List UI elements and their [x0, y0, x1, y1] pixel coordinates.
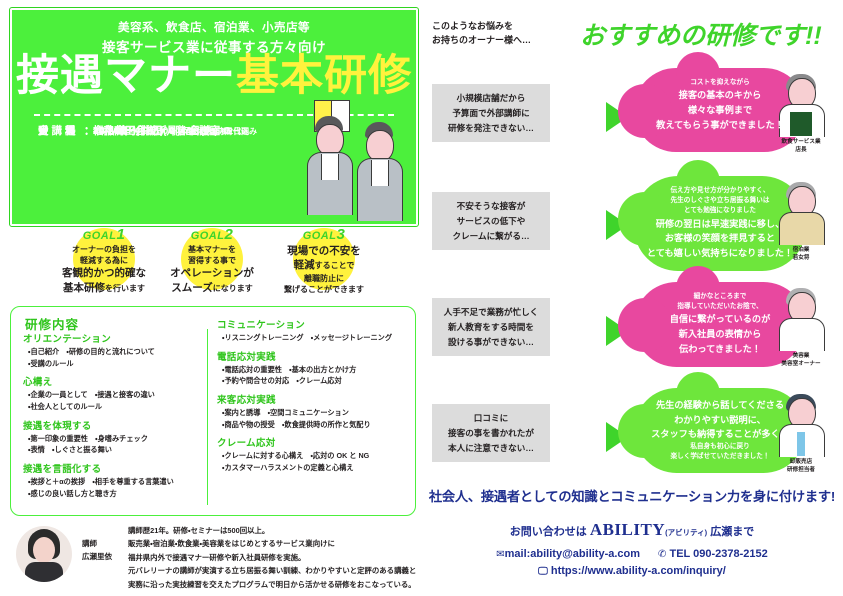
hero-info-colon: ： [84, 123, 93, 219]
testimonial-large-line: 自信に繋がっているのが [646, 312, 794, 327]
flyer-page: 美容系、飲食店、宿泊業、小売店等 接客サービス業に従事する方々向け 接遇マナー基… [0, 0, 843, 596]
goal-line: することで [315, 261, 355, 270]
goal-text: オーナーの負担を 軽減する為に 客観的かつ的確な 基本研修を行います [52, 244, 156, 295]
curriculum-item: ・受講のルール [23, 358, 203, 370]
lead-line-2: お持ちのオーナー様へ… [432, 35, 531, 45]
curriculum-divider [207, 329, 208, 505]
curriculum-section-heading: 心構え [23, 374, 203, 388]
curriculum-item: ・挨拶と＋αの挨拶 ・相手を尊重する言葉遣い [23, 476, 203, 488]
hero-info-label: 受講料 [38, 123, 84, 219]
persona-caption-line: 飲食サービス業 [781, 139, 820, 145]
goal-line-emphasis: 基本研修 [63, 282, 105, 294]
curriculum-left-column: オリエンテーション ・自己紹介 ・研修の目的と流れについて ・受講のルール 心構… [23, 331, 203, 504]
persona-caption-line: 美容室オーナー [781, 361, 820, 367]
contact-web[interactable]: https://www.ability-a.com/inquiry/ [551, 565, 726, 577]
goal-label-text: GOAL [303, 230, 337, 242]
body-shape [25, 562, 63, 582]
curriculum-item: ・感じの良い話し方と聴き方 [23, 488, 203, 500]
problem-line: 本人に注意できない… [448, 443, 534, 453]
goal-text: 現場での不安を 軽減することで 離職防止に 繋げることができます [272, 244, 376, 295]
testimonial-small-line: コストを抑えながら [646, 78, 794, 88]
problem-line: 新人教育をする時間を [448, 322, 534, 332]
goal-label: GOAL2 [160, 226, 264, 243]
testimonial-row-2: 不安そうな接客が サービスの低下や クレームに繋がる… 伝え方や見せ方が分かりや… [428, 174, 836, 270]
curriculum-item: ・案内と誘導 ・空間コミュニケーション [217, 407, 397, 419]
persona-caption-line: 研修担当者 [787, 467, 815, 473]
curriculum-section-heading: クレーム応対 [217, 435, 397, 449]
goal-line: 習得する事で [188, 256, 236, 265]
problem-line: 不安そうな接客が [457, 201, 526, 211]
curriculum-item: ・表情 ・しぐさと振る舞い [23, 444, 203, 456]
contact-mail-phone-line: ✉mail:ability@ability-a.com✆ TEL 090-237… [428, 548, 836, 560]
curriculum-panel: 研修内容 オリエンテーション ・自己紹介 ・研修の目的と流れについて ・受講のル… [10, 306, 416, 516]
testimonial-large-line: 先生の経験から話してくださる [646, 398, 794, 413]
curriculum-section-heading: 接遇を言語化する [23, 461, 203, 475]
goal-line-emphasis: 現場での不安を [287, 245, 361, 257]
curriculum-item: ・自己紹介 ・研修の目的と流れについて [23, 346, 203, 358]
goal-label-text: GOAL [83, 230, 117, 242]
persona-caption-line: 店長 [795, 147, 806, 153]
testimonial-large-line: スタッフも納得することが多く、 [646, 427, 794, 442]
testimonial-large-line: 様々な事例まで [646, 103, 794, 118]
contact-phone[interactable]: TEL 090-2378-2152 [670, 548, 768, 560]
goals-section: GOAL1 オーナーの負担を 軽減する為に 客観的かつ的確な 基本研修を行います… [10, 226, 414, 304]
persona-caption-line: 若女将 [793, 255, 810, 261]
instructor-role: 講師 [82, 539, 97, 548]
goal-line: オーナーの負担を [72, 245, 136, 254]
problem-line: クレームに繋がる… [452, 231, 529, 241]
problem-line: 予算面で外部講師に [452, 108, 529, 118]
problem-box: 人手不足で業務が忙しく 新人教育をする時間を 設ける事ができない… [432, 298, 550, 356]
goal-line-emphasis: 客観的かつ的確な [62, 267, 146, 279]
testimonial-cloud: 細かなところまで 指導していただいたお陰で、 自信に繋がっているのが 新入社員の… [634, 282, 806, 367]
instructor-photo [16, 526, 72, 582]
curriculum-item: ・商品や物の授受 ・飲食提供時の所作と気配り [217, 419, 397, 431]
testimonial-row-1: 小規模店舗だから 予算面で外部講師に 研修を発注できない… コストを抑えながら … [428, 66, 836, 162]
curriculum-item: ・予約や問合せの対応 ・クレーム応対 [217, 375, 397, 387]
hero-subtitle-1: 美容系、飲食店、宿泊業、小売店等 [12, 19, 416, 35]
goal-number: 1 [116, 226, 125, 243]
problem-line: 設ける事ができない… [448, 337, 534, 347]
instructor-bio: 講師歴21年。研修・セミナーは500回以上。 販売業・宿泊業・飲食業・美容業をは… [128, 524, 422, 591]
goal-label: GOAL3 [272, 226, 376, 243]
persona-caption-line: 美容業 [793, 353, 810, 359]
problem-line: サービスの低下や [457, 216, 526, 226]
curriculum-section: 接遇を言語化する ・挨拶と＋αの挨拶 ・相手を尊重する言葉遣い ・感じの良い話し… [23, 461, 203, 499]
curriculum-section: オリエンテーション ・自己紹介 ・研修の目的と流れについて ・受講のルール [23, 331, 203, 369]
contact-suffix: 広瀬まで [710, 526, 754, 538]
brand-kana: (アビリティ) [665, 528, 707, 537]
curriculum-item: ・社会人としてのルール [23, 401, 203, 413]
envelope-icon: ✉ [496, 549, 504, 560]
curriculum-section: クレーム応対 ・クレームに対する心構え ・応対の OK と NG ・カスタマーハ… [217, 435, 397, 473]
instructor-bio-line: 講師歴21年。研修・セミナーは500回以上。 [128, 524, 422, 537]
curriculum-section-heading: 接遇を体現する [23, 418, 203, 432]
problem-box: 小規模店舗だから 予算面で外部講師に 研修を発注できない… [432, 84, 550, 142]
hero-title-part1: 接遇マナー [16, 52, 236, 100]
goal-line-emphasis: 軽減 [294, 259, 315, 271]
goal-line-emphasis: オペレーションが [170, 267, 254, 279]
problem-line: 人手不足で業務が忙しく [444, 307, 539, 317]
goal-label: GOAL1 [52, 226, 156, 243]
testimonial-small-line: 細かなところまで [646, 292, 794, 302]
testimonial-row-4: 口コミに 接客の事を書かれたが 本人に注意できない… 先生の経験から話してくださ… [428, 386, 836, 482]
persona-caption: 飲食サービス業 店長 [768, 138, 834, 155]
curriculum-section: 接遇を体現する ・第一印象の重要性 ・身嗜みチェック ・表情 ・しぐさと振る舞い [23, 418, 203, 456]
curriculum-item: ・企業の一員として ・接遇と接客の違い [23, 389, 203, 401]
goal-number: 3 [336, 226, 345, 243]
testimonial-text: コストを抑えながら 接客の基本のキから 様々な事例まで 教えてもらう事ができまし… [646, 78, 794, 132]
curriculum-item: ・リスニングトレーニング ・メッセージトレーニング [217, 332, 397, 344]
goal-line-emphasis: スムーズ [171, 282, 212, 294]
instructor-name-block: 講師 広瀬里依 [82, 538, 112, 564]
curriculum-right-column: コミュニケーション ・リスニングトレーニング ・メッセージトレーニング 電話応対… [217, 317, 397, 479]
shirt-shape [321, 154, 339, 180]
right-panel-lead: このようなお悩みを お持ちのオーナー様へ… [432, 20, 572, 47]
instructor-bio-line: 福井県内外で接遇マナー研修や新入社員研修を実施。 [128, 551, 422, 564]
problem-box: 不安そうな接客が サービスの低下や クレームに繋がる… [432, 192, 550, 250]
curriculum-item: ・第一印象の重要性 ・身嗜みチェック [23, 433, 203, 445]
testimonial-large-line: お客様の笑顔を拝見すると [646, 231, 794, 246]
testimonial-row-3: 人手不足で業務が忙しく 新人教育をする時間を 設ける事ができない… 細かなところ… [428, 280, 836, 376]
instructor-bio-line: 実務に沿った実技練習を交えたプログラムで明日から活かせる研修をおこなっている。 [128, 578, 422, 591]
curriculum-item: ・電話応対の重要性 ・基本の出方とかけ方 [217, 364, 397, 376]
problem-box: 口コミに 接客の事を書かれたが 本人に注意できない… [432, 404, 550, 462]
testimonial-large-line: わかりやすい説明に、 [646, 413, 794, 428]
instructor-bio-line: 元バレリーナの講師が実演する立ち居振る舞い訓練、わかりやすいと定評のある講義と [128, 564, 422, 577]
contact-prefix: お問い合わせは [510, 526, 587, 538]
curriculum-section: 来客応対実践 ・案内と誘導 ・空間コミュニケーション ・商品や物の授受 ・飲食提… [217, 392, 397, 430]
necktie-shape [797, 432, 805, 456]
goal-badge-3: GOAL3 現場での不安を 軽減することで 離職防止に 繋げることができます [272, 226, 376, 295]
problem-line: 口コミに [474, 413, 508, 423]
curriculum-section: 電話応対実践 ・電話応対の重要性 ・基本の出方とかけ方 ・予約や問合せの対応 ・… [217, 349, 397, 387]
goal-line: 軽減する為に [80, 256, 128, 265]
testimonial-small-line: 先生のしぐさや立ち居振る舞いは [646, 196, 794, 206]
brand-name: ABILITY [590, 520, 665, 539]
instructor-bio-line: 販売業・宿泊業・飲食業・美容業をはじめとするサービス業向けに [128, 537, 422, 550]
testimonial-small-line: 伝え方や見せ方が分かりやすく、 [646, 186, 794, 196]
testimonial-small-line: 指導していただいたお陰で、 [646, 302, 794, 312]
testimonial-text: 細かなところまで 指導していただいたお陰で、 自信に繋がっているのが 新入社員の… [646, 292, 794, 357]
testimonial-cloud: 先生の経験から話してくださる わかりやすい説明に、 スタッフも納得することが多く… [634, 388, 806, 473]
curriculum-section-heading: オリエンテーション [23, 331, 203, 345]
hero-info-value-text: 24,200円(税込) [93, 125, 164, 137]
hero-illustration [300, 92, 410, 224]
curriculum-item: ・カスタマーハラスメントの定義と心構え [217, 462, 397, 474]
goal-line: になります [213, 284, 253, 293]
curriculum-section-heading: 来客応対実践 [217, 392, 397, 406]
testimonial-small-line: 私自身も初心に戻り [646, 442, 794, 452]
goal-line: を行います [105, 284, 145, 293]
monitor-icon: 🖵 [538, 566, 548, 577]
testimonial-large-line: 教えてもらう事ができました！ [646, 118, 794, 133]
testimonial-cloud: 伝え方や見せ方が分かりやすく、 先生のしぐさや立ち居振る舞いは とても勉強になり… [634, 176, 806, 271]
hero-banner: 美容系、飲食店、宿泊業、小売店等 接客サービス業に従事する方々向け 接遇マナー基… [10, 8, 418, 226]
testimonial-large-line: 研修の翌日は早速実践に移し、 [646, 217, 794, 232]
contact-web-line: 🖵 https://www.ability-a.com/inquiry/ [428, 565, 836, 577]
face-shape [33, 537, 55, 563]
closing-tagline: 社会人、接遇者としての知識とコミュニケーション力を身に付けます! [428, 486, 836, 505]
curriculum-section: 心構え ・企業の一員として ・接遇と接客の違い ・社会人としてのルール [23, 374, 203, 412]
contact-section: お問い合わせは ABILITY(アビリティ) 広瀬まで ✉mail:abilit… [428, 520, 836, 577]
problem-line: 小規模店舗だから [457, 93, 526, 103]
testimonial-large-line: 新入社員の表情から [646, 327, 794, 342]
testimonial-large-line: とても嬉しい気持ちになりました！ [646, 246, 794, 261]
right-column: このようなお悩みを お持ちのオーナー様へ… おすすめの研修です!! 小規模店舗だ… [428, 8, 836, 588]
left-column: 美容系、飲食店、宿泊業、小売店等 接客サービス業に従事する方々向け 接遇マナー基… [10, 8, 422, 514]
curriculum-section: コミュニケーション ・リスニングトレーニング ・メッセージトレーニング [217, 317, 397, 344]
shirt-shape [371, 160, 389, 186]
problem-line: 研修を発注できない… [448, 123, 534, 133]
goal-label-text: GOAL [191, 230, 225, 242]
instructor-section: 講師 広瀬里依 講師歴21年。研修・セミナーは500回以上。 販売業・宿泊業・飲… [10, 524, 422, 590]
lead-line-1: このようなお悩みを [432, 21, 513, 31]
testimonial-small-line: とても勉強になりました [646, 206, 794, 216]
goal-badge-2: GOAL2 基本マナーを 習得する事で オペレーションが スムーズになります [160, 226, 264, 295]
goal-line: 離職防止に [304, 274, 344, 283]
testimonial-small-line: 楽しく学ばせていただきました！ [646, 452, 794, 462]
curriculum-section-heading: コミュニケーション [217, 317, 397, 331]
phone-icon: ✆ [658, 549, 666, 560]
curriculum-item: ・クレームに対する心構え ・応対の OK と NG [217, 450, 397, 462]
contact-brand-line: お問い合わせは ABILITY(アビリティ) 広瀬まで [428, 520, 836, 540]
hero-info-note: ※昼食、テキスト代込み [169, 127, 257, 136]
goal-line: 繋げることができます [284, 285, 364, 294]
persona-caption-line: 宿泊業 [793, 247, 810, 253]
problem-line: 接客の事を書かれたが [448, 428, 534, 438]
goal-number: 2 [224, 226, 233, 243]
testimonial-large-line: 接客の基本のキから [646, 88, 794, 103]
curriculum-section-heading: 電話応対実践 [217, 349, 397, 363]
testimonial-large-line: 伝わってきました！ [646, 342, 794, 357]
testimonial-text: 先生の経験から話してくださる わかりやすい説明に、 スタッフも納得することが多く… [646, 398, 794, 463]
right-panel-headline: おすすめの研修です!! [580, 16, 822, 52]
contact-mail[interactable]: mail:ability@ability-a.com [505, 548, 640, 560]
instructor-name: 広瀬里依 [82, 552, 112, 561]
goal-badge-1: GOAL1 オーナーの負担を 軽減する為に 客観的かつ的確な 基本研修を行います [52, 226, 156, 295]
testimonial-text: 伝え方や見せ方が分かりやすく、 先生のしぐさや立ち居振る舞いは とても勉強になり… [646, 186, 794, 261]
goal-line: 基本マナーを [188, 245, 236, 254]
goal-text: 基本マナーを 習得する事で オペレーションが スムーズになります [160, 244, 264, 295]
